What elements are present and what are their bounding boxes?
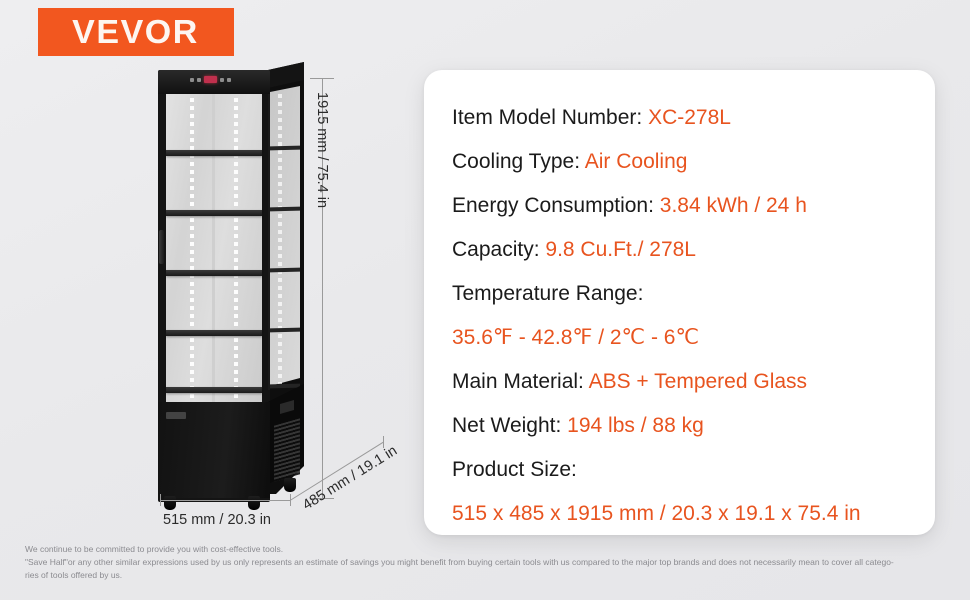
footer-line-1: We continue to be committed to provide y… (25, 543, 945, 556)
control-button-icon (220, 78, 224, 82)
shelf-side (270, 384, 300, 389)
height-dimension-label: 1915 mm / 75.4 in (314, 92, 330, 208)
ventilation-grille (274, 418, 300, 481)
spec-row-energy-consumption: Energy Consumption: 3.84 kWh / 24 h (452, 184, 935, 228)
spec-row-model: Item Model Number: XC-278L (452, 96, 935, 140)
footer-disclaimer: We continue to be committed to provide y… (25, 543, 945, 582)
spec-value: 3.84 kWh / 24 h (660, 194, 807, 217)
spec-label: Temperature Range: (452, 282, 643, 305)
spec-value: 9.8 Cu.Ft./ 278L (545, 238, 696, 261)
wire-shelf (166, 210, 262, 216)
base-brand-mark (166, 412, 186, 419)
led-strip (278, 94, 282, 384)
footer-line-2: "Save Half"or any other similar expressi… (25, 556, 945, 569)
control-button-icon (197, 78, 201, 82)
temperature-display (204, 76, 217, 83)
spec-row-net-weight: Net Weight: 194 lbs / 88 kg (452, 404, 935, 448)
spec-row-cooling-type: Cooling Type: Air Cooling (452, 140, 935, 184)
spec-value: ABS + Tempered Glass (589, 370, 807, 393)
spec-label: Net Weight: (452, 414, 561, 437)
door-mullion (212, 92, 215, 402)
height-dimension-tick-top (310, 78, 334, 79)
spec-label: Capacity: (452, 238, 540, 261)
caster-wheel (248, 496, 260, 510)
shelf-side (270, 207, 300, 212)
shelf-side (270, 268, 300, 273)
glass-corner-post (268, 84, 270, 390)
footer-line-3: ries of tools offered by us. (25, 569, 945, 582)
shelf-side (270, 146, 300, 151)
width-dimension-label: 515 mm / 20.3 in (163, 512, 271, 528)
spec-label: Cooling Type: (452, 150, 580, 173)
spec-row-product-size-value: 515 x 485 x 1915 mm / 20.3 x 19.1 x 75.4… (452, 492, 935, 536)
spec-label: Energy Consumption: (452, 194, 654, 217)
caster-wheel (164, 496, 176, 510)
spec-row-capacity: Capacity: 9.8 Cu.Ft./ 278L (452, 228, 935, 272)
led-strip (234, 98, 238, 398)
depth-dimension-label: 485 mm / 19.1 in (300, 443, 400, 514)
spec-value: XC-278L (648, 106, 731, 129)
spec-label: Item Model Number: (452, 106, 642, 129)
shelf-side (270, 328, 300, 333)
control-button-icon (227, 78, 231, 82)
depth-dimension-tick-near (290, 494, 291, 506)
spec-value: 194 lbs / 88 kg (567, 414, 704, 437)
control-button-icon (190, 78, 194, 82)
spec-value: Air Cooling (585, 150, 688, 173)
wire-shelf (166, 387, 262, 393)
spec-row-temperature-range-value: 35.6℉ - 42.8℉ / 2℃ - 6℃ (452, 316, 935, 360)
vevor-logo: VEVOR (38, 8, 234, 56)
control-panel (190, 75, 236, 84)
caster-wheel (284, 478, 296, 492)
spec-label: Product Size: (452, 458, 577, 481)
spec-row-product-size-label: Product Size: (452, 448, 935, 492)
brand-name: VEVOR (73, 13, 200, 51)
spec-label: Main Material: (452, 370, 584, 393)
wire-shelf (166, 270, 262, 276)
spec-row-temperature-range-label: Temperature Range: (452, 272, 935, 316)
specification-card: Item Model Number: XC-278L Cooling Type:… (424, 70, 935, 535)
led-strip (190, 98, 194, 398)
width-dimension-tick-left (160, 494, 161, 506)
glass-side-pane (270, 86, 300, 386)
product-illustration (150, 62, 310, 517)
wire-shelf (166, 150, 262, 156)
wire-shelf (166, 330, 262, 336)
page-background: VEVOR (0, 0, 970, 600)
spec-row-main-material: Main Material: ABS + Tempered Glass (452, 360, 935, 404)
width-dimension-line (160, 500, 290, 501)
door-handle (159, 230, 164, 264)
